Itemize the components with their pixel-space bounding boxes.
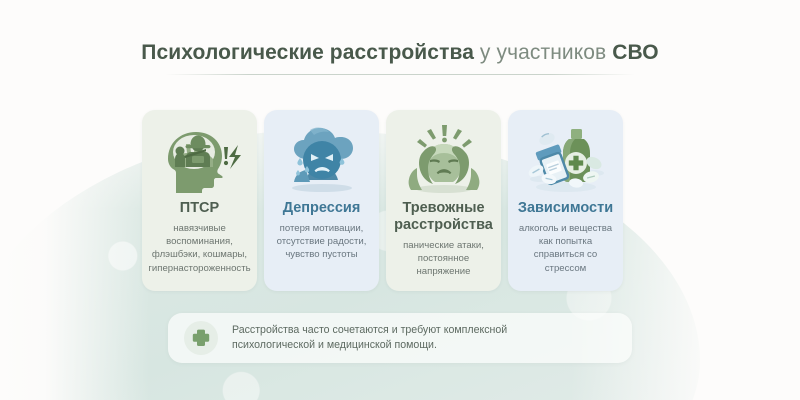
- disorder-card-title: ПТСР: [178, 200, 221, 217]
- summary-banner-line-2: психологической и медицинской помощи.: [232, 338, 507, 354]
- disorder-card-addiction[interactable]: Зависимости алкоголь и вещества как попы…: [508, 110, 623, 291]
- disorder-card-description: навязчивые воспоминания, флэшбэки, кошма…: [145, 222, 253, 275]
- disorder-card-list: ПТСР навязчивые воспоминания, флэшбэки, …: [142, 110, 658, 291]
- summary-banner: Расстройства часто сочетаются и требуют …: [168, 313, 632, 363]
- stressed-head-hands-icon: [392, 120, 496, 196]
- page-title-light: у участников: [474, 41, 612, 64]
- summary-banner-line-1: Расстройства часто сочетаются и требуют …: [232, 323, 507, 339]
- page-title-strong-end: СВО: [612, 41, 658, 64]
- disorder-card-depression[interactable]: Депрессия потеря мотивации, отсутствие р…: [264, 110, 379, 291]
- disorder-card-description: панические атаки, постоянное напряжение: [390, 239, 497, 279]
- infographic-canvas: Психологические расстройства у участнико…: [0, 0, 800, 400]
- medical-cross-icon: [184, 321, 218, 355]
- disorder-card-ptsr[interactable]: ПТСР навязчивые воспоминания, флэшбэки, …: [142, 110, 257, 291]
- bottle-pills-icon: [514, 120, 618, 196]
- disorder-card-description: потеря мотивации, отсутствие радости, чу…: [268, 222, 375, 262]
- disorder-card-title: Зависимости: [516, 200, 615, 217]
- sad-face-raincloud-icon: [270, 120, 374, 196]
- head-soldier-lightning-icon: [148, 120, 252, 196]
- header: Психологические расстройства у участнико…: [0, 40, 800, 75]
- disorder-card-title: Депрессия: [281, 200, 363, 217]
- page-title-strong: Психологические расстройства: [141, 41, 474, 64]
- disorder-card-anxiety[interactable]: Тревожные расстройства панические атаки,…: [386, 110, 501, 291]
- disorder-card-description: алкоголь и вещества как попытка справить…: [512, 222, 619, 275]
- page-title: Психологические расстройства у участнико…: [0, 40, 800, 66]
- summary-banner-text: Расстройства часто сочетаются и требуют …: [232, 323, 507, 354]
- title-divider: [165, 74, 635, 75]
- disorder-card-title: Тревожные расстройства: [390, 200, 497, 234]
